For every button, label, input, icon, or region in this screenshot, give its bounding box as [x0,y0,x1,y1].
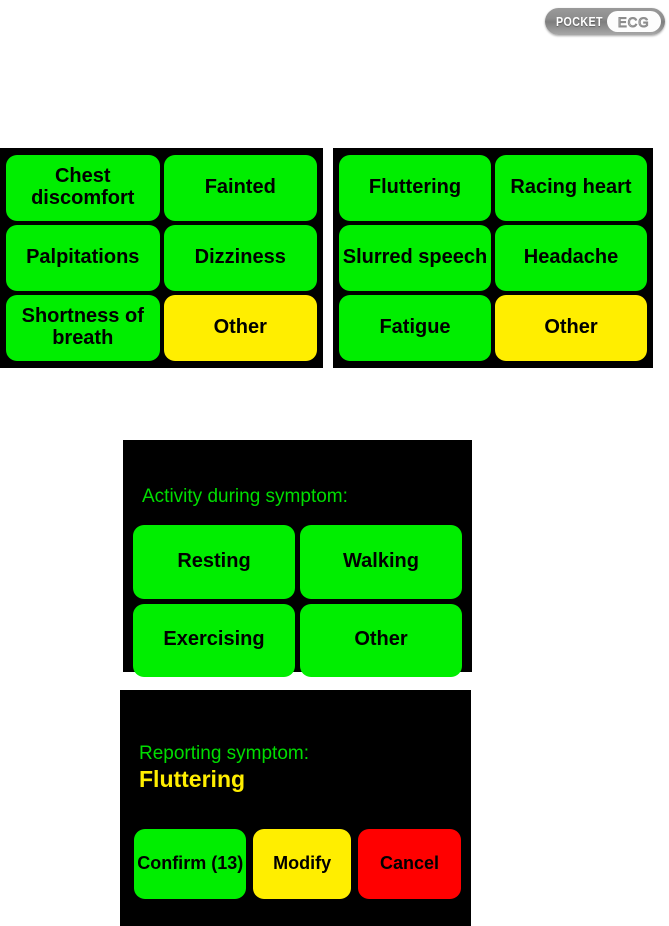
modify-button[interactable]: Modify [253,829,350,899]
symptom-button-fainted[interactable]: Fainted [164,155,318,221]
symptom-button-palpitations[interactable]: Palpitations [6,225,160,291]
symptom-button-fluttering[interactable]: Fluttering [339,155,491,221]
symptom-button-chest-discomfort[interactable]: Chest discomfort [6,155,160,221]
symptom-button-other-1[interactable]: Other [164,295,318,361]
logo-wordmark: POCKET [556,14,603,29]
symptom-button-slurred-speech[interactable]: Slurred speech [339,225,491,291]
symptom-selection-screen-page-1: Chest discomfort Fainted Palpitations Di… [0,148,323,368]
activity-button-grid: Resting Walking Exercising Other [133,525,462,677]
symptom-button-dizziness[interactable]: Dizziness [164,225,318,291]
symptom-button-racing-heart[interactable]: Racing heart [495,155,647,221]
symptom-button-headache[interactable]: Headache [495,225,647,291]
activity-prompt-label: Activity during symptom: [142,486,462,508]
confirm-button[interactable]: Confirm (13) [134,829,246,899]
symptom-confirmation-screen: Reporting symptom: Fluttering Confirm (1… [120,690,471,926]
pocket-ecg-logo: POCKET ECG [545,8,665,35]
activity-button-resting[interactable]: Resting [133,525,295,599]
logo-ecg-text: ECG [618,14,650,30]
reporting-prompt-label: Reporting symptom: [139,743,461,765]
cancel-button[interactable]: Cancel [358,829,461,899]
activity-button-walking[interactable]: Walking [300,525,462,599]
activity-selection-screen: Activity during symptom: Resting Walking… [123,440,472,672]
symptom-button-fatigue[interactable]: Fatigue [339,295,491,361]
activity-button-other[interactable]: Other [300,604,462,678]
symptom-button-other-2[interactable]: Other [495,295,647,361]
activity-button-exercising[interactable]: Exercising [133,604,295,678]
logo-ecg-pill: ECG [607,11,661,32]
symptom-button-grid-2: Fluttering Racing heart Slurred speech H… [339,155,647,361]
reported-symptom-value: Fluttering [139,766,461,793]
symptom-button-grid-1: Chest discomfort Fainted Palpitations Di… [6,155,317,361]
symptom-selection-screen-page-2: Fluttering Racing heart Slurred speech H… [333,148,653,368]
confirmation-action-row: Confirm (13) Modify Cancel [134,829,461,899]
symptom-button-shortness-of-breath[interactable]: Shortness of breath [6,295,160,361]
